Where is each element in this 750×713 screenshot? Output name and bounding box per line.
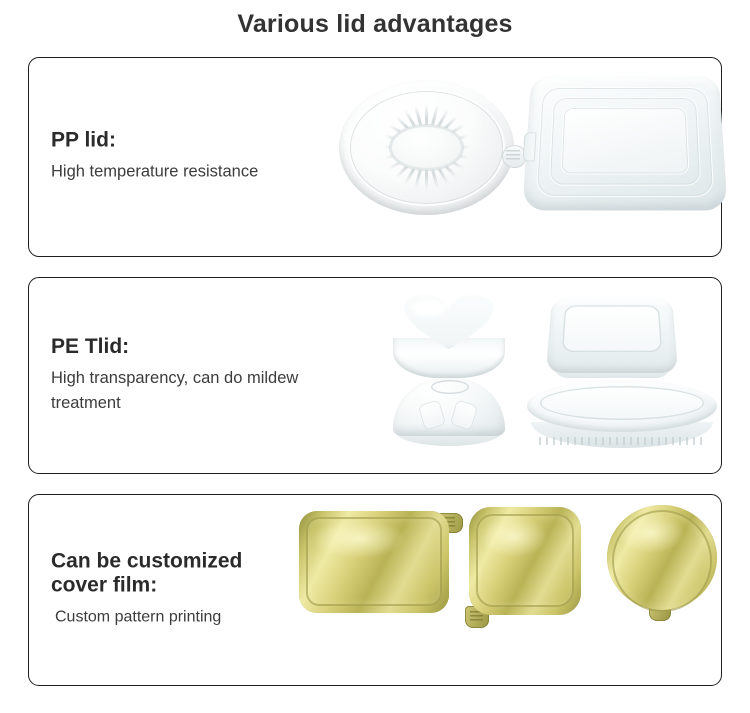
gold-square-cover-film-image: [469, 507, 581, 615]
dome-lid-wedge-right: [450, 399, 478, 430]
rect-lid-notch: [523, 132, 537, 161]
card-cover-film: Can be customized cover film: Custom pat…: [28, 494, 722, 686]
card-pp-lid: PP lid: High temperature resistance: [28, 57, 722, 257]
dome-lid-cap: [393, 378, 505, 436]
dome-lid-wedge-left: [418, 399, 446, 430]
oval-lid-top: [527, 380, 717, 432]
gold-round-cover-film-image: [607, 505, 717, 617]
rectangular-pp-lid-image: [522, 76, 727, 211]
card-pe-media: [269, 278, 713, 473]
heart-pe-lid-image: [391, 292, 509, 378]
dome-lid-straw-hole: [431, 380, 469, 394]
oval-lid-inner-panel: [540, 386, 703, 419]
rect-lid-ring-inner: [561, 107, 689, 174]
card-pp-media: [269, 58, 713, 256]
dome-pe-lid-image: [393, 378, 505, 448]
square-lid-body: [546, 299, 679, 373]
square-pe-lid-image: [549, 294, 675, 374]
gold-round-lip: [612, 510, 712, 612]
gold-rect-lip: [306, 517, 442, 606]
round-lid-center-hub: [390, 125, 464, 171]
round-pp-lid-image: [339, 80, 514, 215]
gold-square-lip: [476, 514, 574, 607]
oval-pe-lid-image: [527, 380, 717, 448]
square-lid-inner-panel: [562, 305, 663, 352]
lid-advantages-page: Various lid advantages PP lid: High temp…: [0, 0, 750, 713]
gold-rectangular-cover-film-image: [299, 511, 449, 613]
heart-lid-highlight: [411, 300, 447, 316]
card-cover-film-media: [269, 495, 713, 685]
page-title: Various lid advantages: [0, 10, 750, 39]
card-pe-lid: PE Tlid: High transparency, can do milde…: [28, 277, 722, 474]
